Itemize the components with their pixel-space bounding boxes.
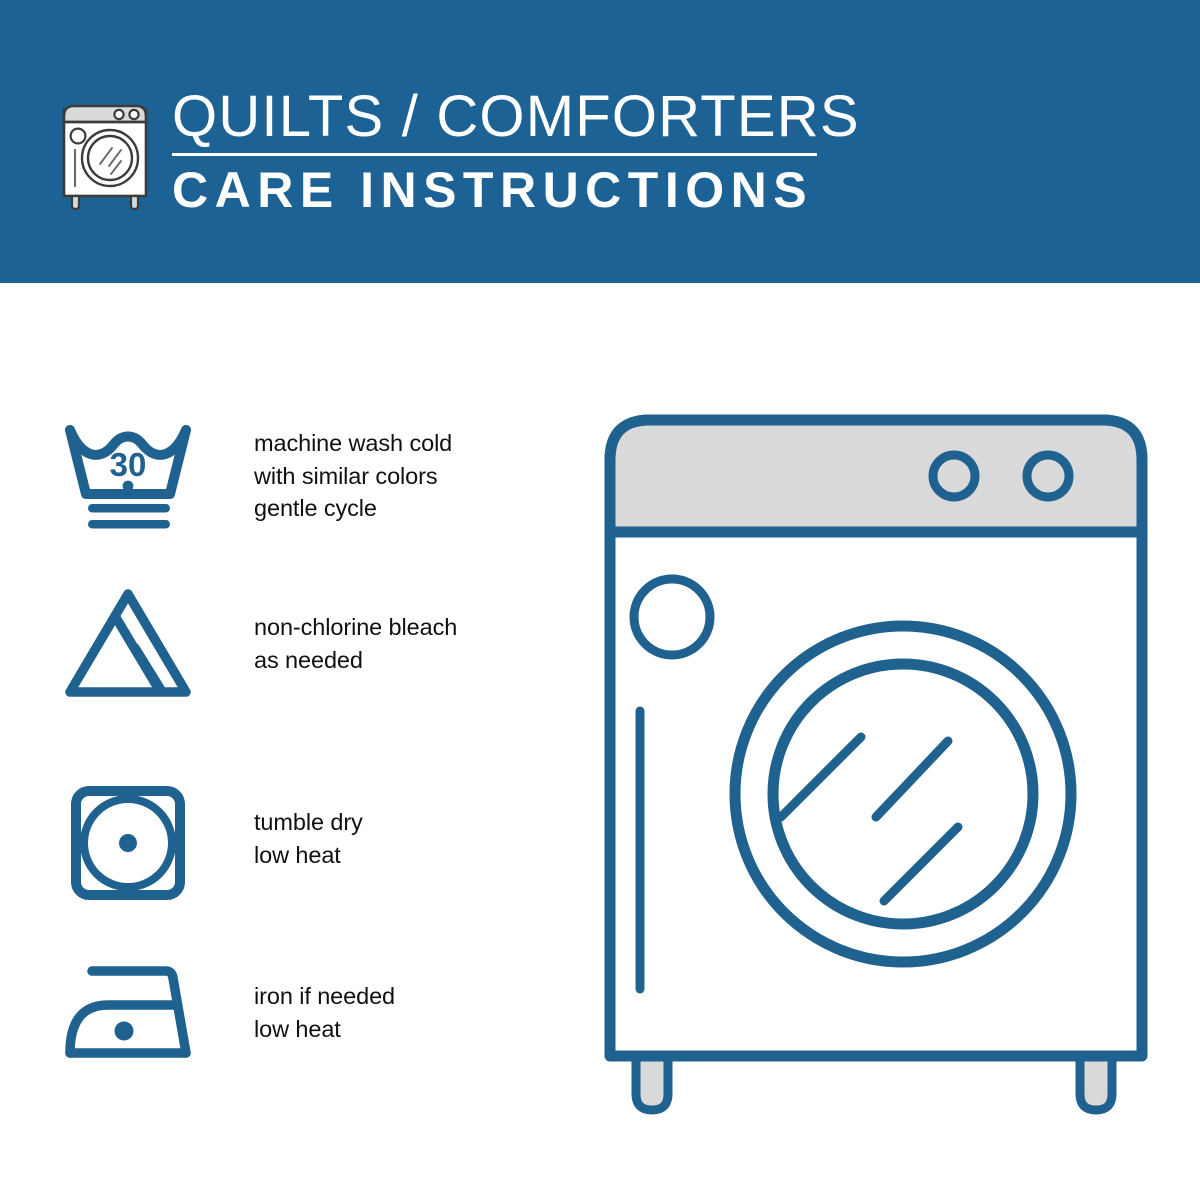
care-instructions-list: 30 machine wash cold with similar colors…: [0, 283, 560, 1200]
tumble-dry-low-icon: [62, 783, 194, 901]
iron-low-icon: [62, 953, 194, 1071]
wash-temperature-label: 30: [110, 446, 147, 483]
care-item-wash-text: machine wash cold with similar colors ge…: [254, 427, 452, 525]
header-banner: QUILTS / COMFORTERS CARE INSTRUCTIONS: [0, 0, 1200, 283]
page-subtitle: CARE INSTRUCTIONS: [172, 163, 817, 217]
wash-tub-30-gentle-icon: 30: [62, 418, 194, 536]
care-item-bleach-text: non-chlorine bleach as needed: [254, 611, 457, 676]
washer-knob-left: [933, 455, 975, 497]
care-item-tumble-dry-text: tumble dry low heat: [254, 806, 363, 871]
washer-knob-right: [1027, 455, 1069, 497]
title-divider: [172, 153, 817, 156]
header-title-group: QUILTS / COMFORTERS CARE INSTRUCTIONS: [172, 86, 817, 217]
care-item-iron-text: iron if needed low heat: [254, 980, 395, 1045]
page-title: QUILTS / COMFORTERS: [172, 86, 817, 148]
washing-machine-icon: [55, 82, 161, 210]
front-load-washing-machine-illustration: [596, 404, 1156, 1128]
non-chlorine-bleach-triangle-icon: [62, 586, 194, 704]
